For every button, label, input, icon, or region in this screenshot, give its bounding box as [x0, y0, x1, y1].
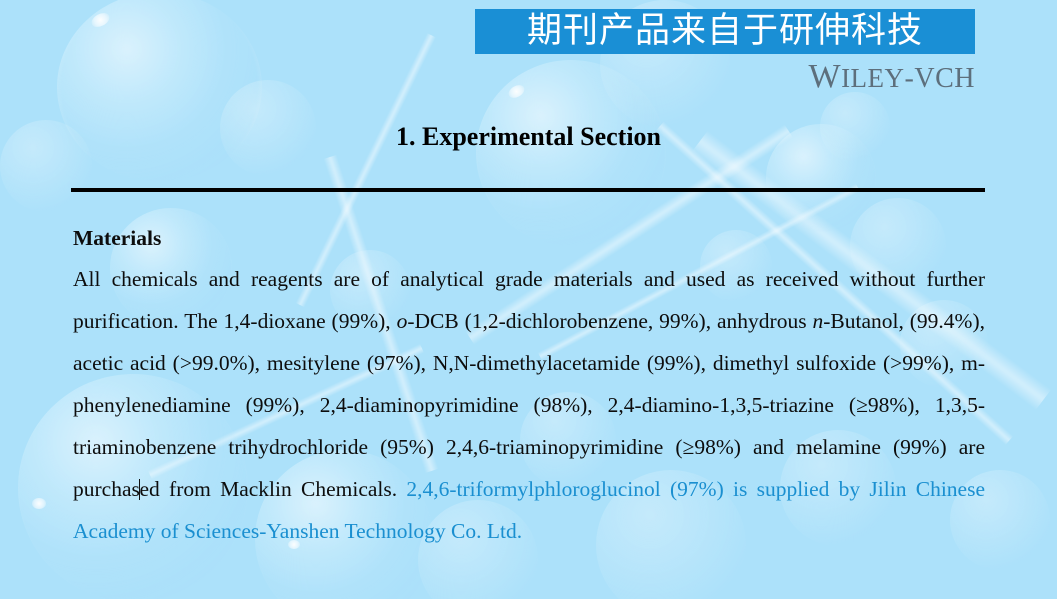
logo-iley: ILEY — [841, 63, 904, 93]
horizontal-rule — [71, 188, 985, 192]
chinese-banner-text: 期刊产品来自于研伸科技 — [475, 9, 975, 54]
paragraph-segment-4: ed from Macklin Chemicals. — [140, 477, 407, 501]
wiley-vch-logo: WILEY-VCH — [808, 57, 975, 99]
page-title: 1. Experimental Section — [0, 120, 1057, 154]
logo-dash-vch: -VCH — [905, 63, 975, 94]
bubble-highlight — [32, 498, 46, 509]
paragraph-segment-2: -DCB (1,2-dichlorobenzene, 99%), anhydro… — [407, 309, 812, 333]
document-body[interactable]: Materials All chemicals and reagents are… — [73, 218, 985, 552]
paragraph-segment-3: -Butanol, (99.4%), acetic acid (>99.0%),… — [73, 309, 985, 501]
logo-w: W — [808, 58, 841, 95]
slide-page: 期刊产品来自于研伸科技 WILEY-VCH 1. Experimental Se… — [0, 0, 1057, 599]
page-header: 期刊产品来自于研伸科技 WILEY-VCH — [0, 0, 1057, 110]
subheading-materials: Materials — [73, 218, 985, 258]
italic-n: n — [812, 309, 823, 333]
materials-paragraph[interactable]: All chemicals and reagents are of analyt… — [73, 258, 985, 552]
italic-o: o — [397, 309, 408, 333]
